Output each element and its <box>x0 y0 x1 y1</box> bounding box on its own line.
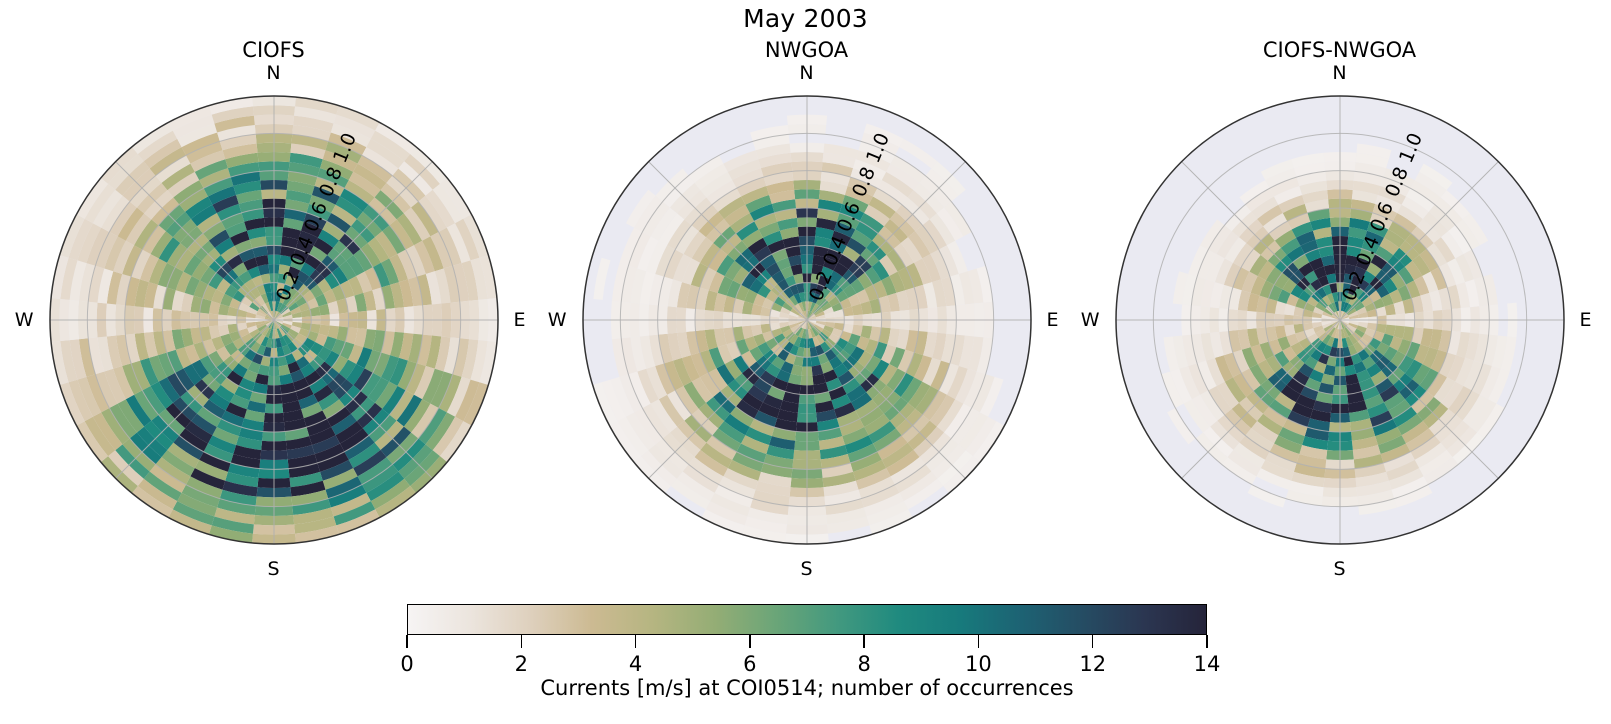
polar-axes-ciofs-nwgoa[interactable]: N S W E 0.20.40.60.81.0 <box>1110 90 1570 550</box>
panel-nwgoa: NWGOA N S W E 0.20.40.60.81.0 <box>538 60 1075 580</box>
compass-label-west: W <box>15 309 34 331</box>
colorbar-tick <box>521 635 522 648</box>
compass-label-south: S <box>1333 558 1345 580</box>
panel-ciofs-nwgoa: CIOFS-NWGOA N S W E 0.20.40.60.81.0 <box>1071 60 1608 580</box>
compass-label-east: E <box>514 309 526 331</box>
compass-label-north: N <box>266 62 280 84</box>
colorbar-tick <box>863 635 864 648</box>
panel-ciofs: CIOFS N S W E 0.20.40.60.81.0 <box>5 60 542 580</box>
panel-title: CIOFS-NWGOA <box>1071 38 1608 62</box>
colorbar-tick-label: 4 <box>629 652 642 676</box>
figure-canvas: May 2003 CIOFS N S W E 0.20.40.60.81.0 N… <box>0 0 1611 724</box>
colorbar-tick <box>1092 635 1093 648</box>
polar-axes-ciofs[interactable]: N S W E 0.20.40.60.81.0 <box>44 90 504 550</box>
compass-label-north: N <box>1332 62 1346 84</box>
compass-label-east: E <box>1047 309 1059 331</box>
figure-suptitle: May 2003 <box>0 4 1611 33</box>
panel-title: NWGOA <box>538 38 1075 62</box>
compass-label-north: N <box>799 62 813 84</box>
colorbar-tick-label: 2 <box>515 652 528 676</box>
colorbar-tick <box>749 635 750 648</box>
colorbar[interactable] <box>407 604 1207 635</box>
colorbar-tick <box>635 635 636 648</box>
colorbar-tick <box>1206 635 1207 648</box>
colorbar-tick <box>978 635 979 648</box>
colorbar-tick-label: 8 <box>857 652 870 676</box>
colorbar-tick <box>406 635 407 648</box>
polar-grid <box>583 96 1031 544</box>
polar-grid <box>50 96 498 544</box>
compass-label-east: E <box>1580 309 1592 331</box>
colorbar-tick-label: 14 <box>1194 652 1221 676</box>
colorbar-caption: Currents [m/s] at COI0514; number of occ… <box>407 676 1207 700</box>
panel-title: CIOFS <box>5 38 542 62</box>
colorbar-tick-label: 0 <box>400 652 413 676</box>
colorbar-tick-label: 6 <box>743 652 756 676</box>
polar-axes-nwgoa[interactable]: N S W E 0.20.40.60.81.0 <box>577 90 1037 550</box>
compass-label-west: W <box>1081 309 1100 331</box>
windrose-plot <box>44 90 504 550</box>
compass-label-south: S <box>800 558 812 580</box>
windrose-plot <box>1110 90 1570 550</box>
compass-label-south: S <box>267 558 279 580</box>
colorbar-gradient <box>408 605 1206 634</box>
colorbar-tick-label: 12 <box>1079 652 1106 676</box>
colorbar-tick-label: 10 <box>965 652 992 676</box>
compass-label-west: W <box>548 309 567 331</box>
windrose-plot <box>577 90 1037 550</box>
polar-grid <box>1116 96 1564 544</box>
